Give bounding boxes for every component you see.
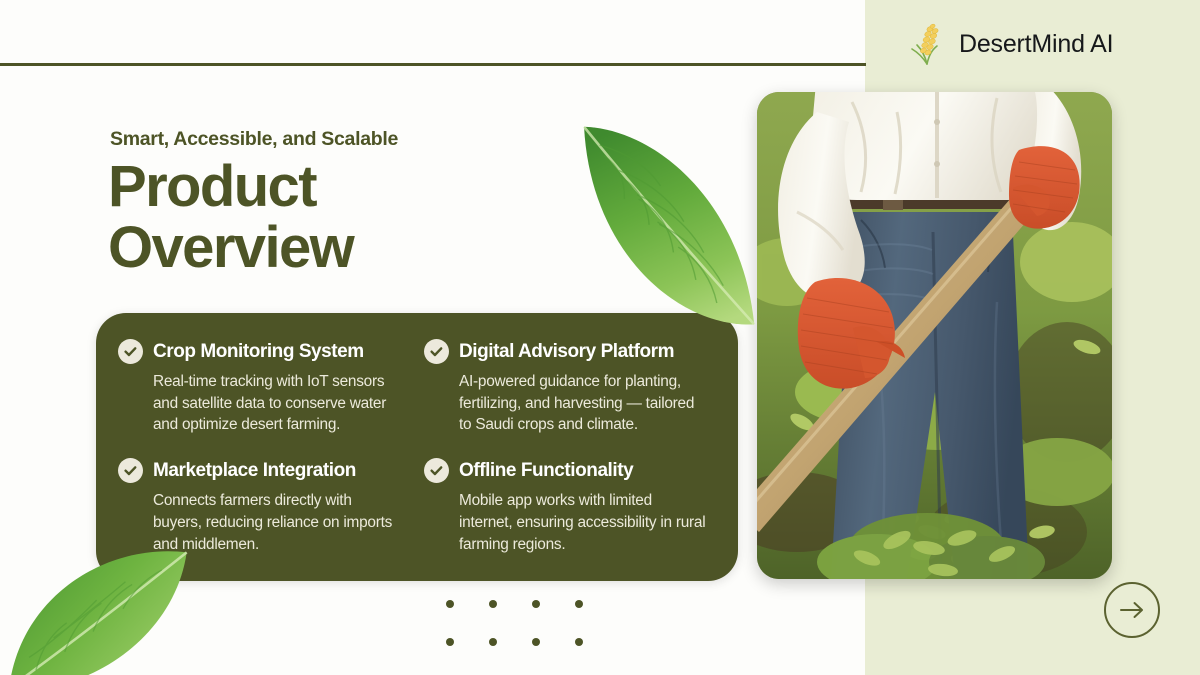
feature-description: Mobile app works with limited internet, … bbox=[459, 490, 708, 555]
feature-heading: Offline Functionality bbox=[424, 458, 708, 483]
brand-lockup: DesertMind AI bbox=[908, 22, 1113, 66]
features-card: Crop Monitoring System Real-time trackin… bbox=[96, 313, 738, 581]
page-title-line1: Product bbox=[108, 154, 316, 219]
feature-title: Marketplace Integration bbox=[153, 460, 356, 482]
page-title: Product Overview bbox=[108, 156, 353, 279]
arrow-right-icon bbox=[1118, 600, 1146, 620]
eyebrow-text: Smart, Accessible, and Scalable bbox=[110, 128, 398, 151]
feature-description: AI-powered guidance for planting, fertil… bbox=[459, 371, 708, 436]
feature-title: Offline Functionality bbox=[459, 460, 633, 482]
dot bbox=[575, 600, 583, 608]
dot bbox=[532, 600, 540, 608]
feature-heading: Marketplace Integration bbox=[118, 458, 402, 483]
check-circle-icon bbox=[424, 339, 449, 364]
feature-title: Digital Advisory Platform bbox=[459, 341, 674, 363]
feature-item: Digital Advisory Platform AI-powered gui… bbox=[424, 339, 708, 436]
page-title-line2: Overview bbox=[108, 217, 353, 278]
dot-grid-decoration bbox=[446, 600, 618, 675]
wheat-stalk-icon bbox=[908, 22, 948, 66]
dot bbox=[489, 638, 497, 646]
feature-description: Connects farmers directly with buyers, r… bbox=[153, 490, 402, 555]
header-divider bbox=[0, 63, 866, 66]
slide-root: DesertMind AI Smart, Accessible, and Sca… bbox=[0, 0, 1200, 675]
feature-item: Crop Monitoring System Real-time trackin… bbox=[118, 339, 402, 436]
dot bbox=[489, 600, 497, 608]
feature-heading: Crop Monitoring System bbox=[118, 339, 402, 364]
dot bbox=[575, 638, 583, 646]
feature-description: Real-time tracking with IoT sensors and … bbox=[153, 371, 402, 436]
hero-photo bbox=[757, 92, 1112, 579]
dot bbox=[446, 600, 454, 608]
next-slide-button[interactable] bbox=[1104, 582, 1160, 638]
dot bbox=[532, 638, 540, 646]
brand-name: DesertMind AI bbox=[959, 30, 1113, 59]
check-circle-icon bbox=[118, 339, 143, 364]
feature-heading: Digital Advisory Platform bbox=[424, 339, 708, 364]
check-circle-icon bbox=[424, 458, 449, 483]
feature-item: Marketplace Integration Connects farmers… bbox=[118, 458, 402, 555]
check-circle-icon bbox=[118, 458, 143, 483]
dot bbox=[446, 638, 454, 646]
feature-title: Crop Monitoring System bbox=[153, 341, 364, 363]
feature-item: Offline Functionality Mobile app works w… bbox=[424, 458, 708, 555]
